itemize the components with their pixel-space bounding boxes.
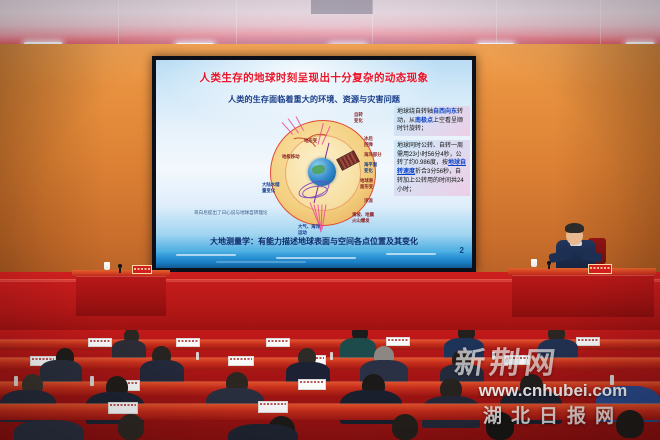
watermark-url: www.cnhubei.com (448, 381, 658, 401)
audience-shoulders (14, 420, 84, 440)
slide-footer-text: 大地测量学：有能力描述地球表面与空间各点位置及其变化 (156, 236, 472, 247)
audience-head (118, 414, 144, 440)
diagram-label-post-glacial: 冰后回弹 (364, 136, 373, 147)
audience-shoulders (340, 338, 376, 360)
nameplate (132, 265, 152, 274)
speaker-hair (565, 223, 584, 233)
audience-shoulders (228, 424, 298, 440)
water-cup (104, 262, 110, 270)
audience-head (392, 414, 418, 440)
diagram-label-atmosphere-ocean: 大气、海洋运动 (298, 224, 320, 235)
slide-text-panel: 地球绕自转轴自西向东转动，从南极点上空看呈顺时针旋转； 地球同时公转、自转一周需… (394, 106, 470, 200)
slide-note-copernicus: 哥白尼提出了日心说与地球自转理论 (194, 210, 268, 216)
audience-shoulders (40, 360, 82, 384)
water-cup (531, 259, 537, 267)
name-card (298, 379, 326, 390)
microphone-stem (119, 266, 121, 273)
watermark-site-name: 湖北日报网 (448, 401, 658, 428)
name-card (176, 338, 200, 347)
audience-shoulders (140, 360, 184, 384)
diagram-label-polar-motion: 地极移动 (282, 154, 300, 160)
diagram-label-ocean-part: 海洋部分 (364, 152, 382, 158)
watermark-calligraphy: 新荆网 (452, 338, 658, 384)
diagram-label-sea-level: 海平面变化 (364, 162, 377, 173)
name-card (88, 338, 112, 347)
water-bottle (90, 376, 94, 386)
nameplate (588, 264, 612, 274)
name-card (258, 401, 288, 413)
diagram-label-quake-volcano: 滑坡、地震火山爆发 (352, 212, 374, 223)
water-bottle (14, 376, 18, 386)
slide-page-number: 2 (460, 246, 464, 255)
presentation-slide: 人类生存的地球时刻呈现出十分复杂的动态现象 人类的生存面临着重大的环境、资源与灾… (156, 60, 472, 268)
diagram-label-crustal-deform: 地形变 (304, 138, 317, 144)
diagram-label-ocean-current: 洋流 (364, 198, 373, 204)
diagram-label-continental-water: 大陆水储量变化 (262, 182, 280, 193)
water-bottle (196, 352, 199, 360)
slide-water-band (156, 250, 472, 268)
name-card (386, 337, 410, 346)
slide-subtitle: 人类的生存面临着重大的环境、资源与灾害问题 (156, 93, 472, 105)
audience-shoulders (112, 340, 146, 360)
text-block-rotation-direction: 地球绕自转轴自西向东转动，从南极点上空看呈顺时针旋转； (394, 106, 470, 136)
name-card (108, 402, 138, 414)
water-bottle (330, 352, 333, 360)
ceiling-vent (311, 0, 373, 14)
earth-system-dynamics-diagram: 自转变化 冰后回弹 海洋部分 海平面变化 地球表面形变 洋流 滑坡、地震火山爆发… (252, 108, 388, 234)
diagram-label-rotation-change: 自转变化 (354, 112, 363, 123)
name-card (228, 356, 254, 366)
name-card (266, 338, 290, 347)
ceiling (0, 0, 660, 46)
seg-bold-south-pole: 南极点 (415, 118, 433, 124)
seg-bold-west-east: 自西向东 (433, 109, 457, 115)
text-block-rotation-period: 地球同时公转、自转一周需用23小时56分4秒，公转了约0.986度，按地球自转速… (394, 140, 470, 196)
seg-plain-1: 地球绕自转轴 (397, 109, 433, 115)
microphone-stem (548, 263, 550, 269)
photo-scene: 人类生存的地球时刻呈现出十分复杂的动态现象 人类的生存面临着重大的环境、资源与灾… (0, 0, 660, 440)
right-desk (512, 275, 654, 317)
left-desk (76, 276, 166, 316)
diagram-label-surface-deformation: 地球表面形变 (360, 178, 373, 189)
slide-title: 人类生存的地球时刻呈现出十分复杂的动态现象 (156, 70, 472, 85)
